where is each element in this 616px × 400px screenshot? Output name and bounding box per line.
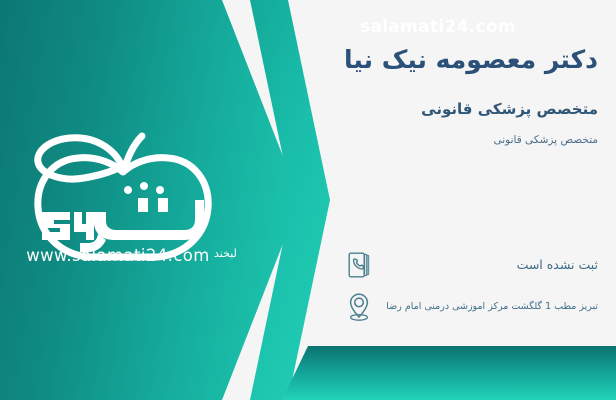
chevron-main-shape (0, 0, 300, 400)
phone-info-row: ثبت نشده است (346, 250, 598, 280)
address-value: تبریز مطب 1 گلگشت مرکز اموزشی درمنی امام… (382, 301, 598, 314)
phone-book-icon (346, 250, 372, 280)
map-pin-icon (346, 292, 372, 322)
footer-website-url[interactable]: salamati24.com (282, 0, 616, 54)
profile-content: دکتر معصومه نیک نیا متخصص پزشکی قانونی م… (330, 0, 616, 400)
logo-website-url: www.salamati24.com (0, 246, 236, 265)
footer-bar (282, 346, 616, 400)
phone-value: ثبت نشده است (382, 257, 598, 274)
address-info-row: تبریز مطب 1 گلگشت مرکز اموزشی درمنی امام… (346, 292, 598, 322)
brand-panel: به راحتی یک لبخند www.salamati24.com (0, 0, 330, 400)
doctor-profile-card: به راحتی یک لبخند www.salamati24.com دکت… (0, 0, 616, 400)
doctor-specialty-secondary: متخصص پزشکی قانونی (348, 134, 598, 146)
doctor-specialty: متخصص پزشکی قانونی (348, 100, 598, 118)
